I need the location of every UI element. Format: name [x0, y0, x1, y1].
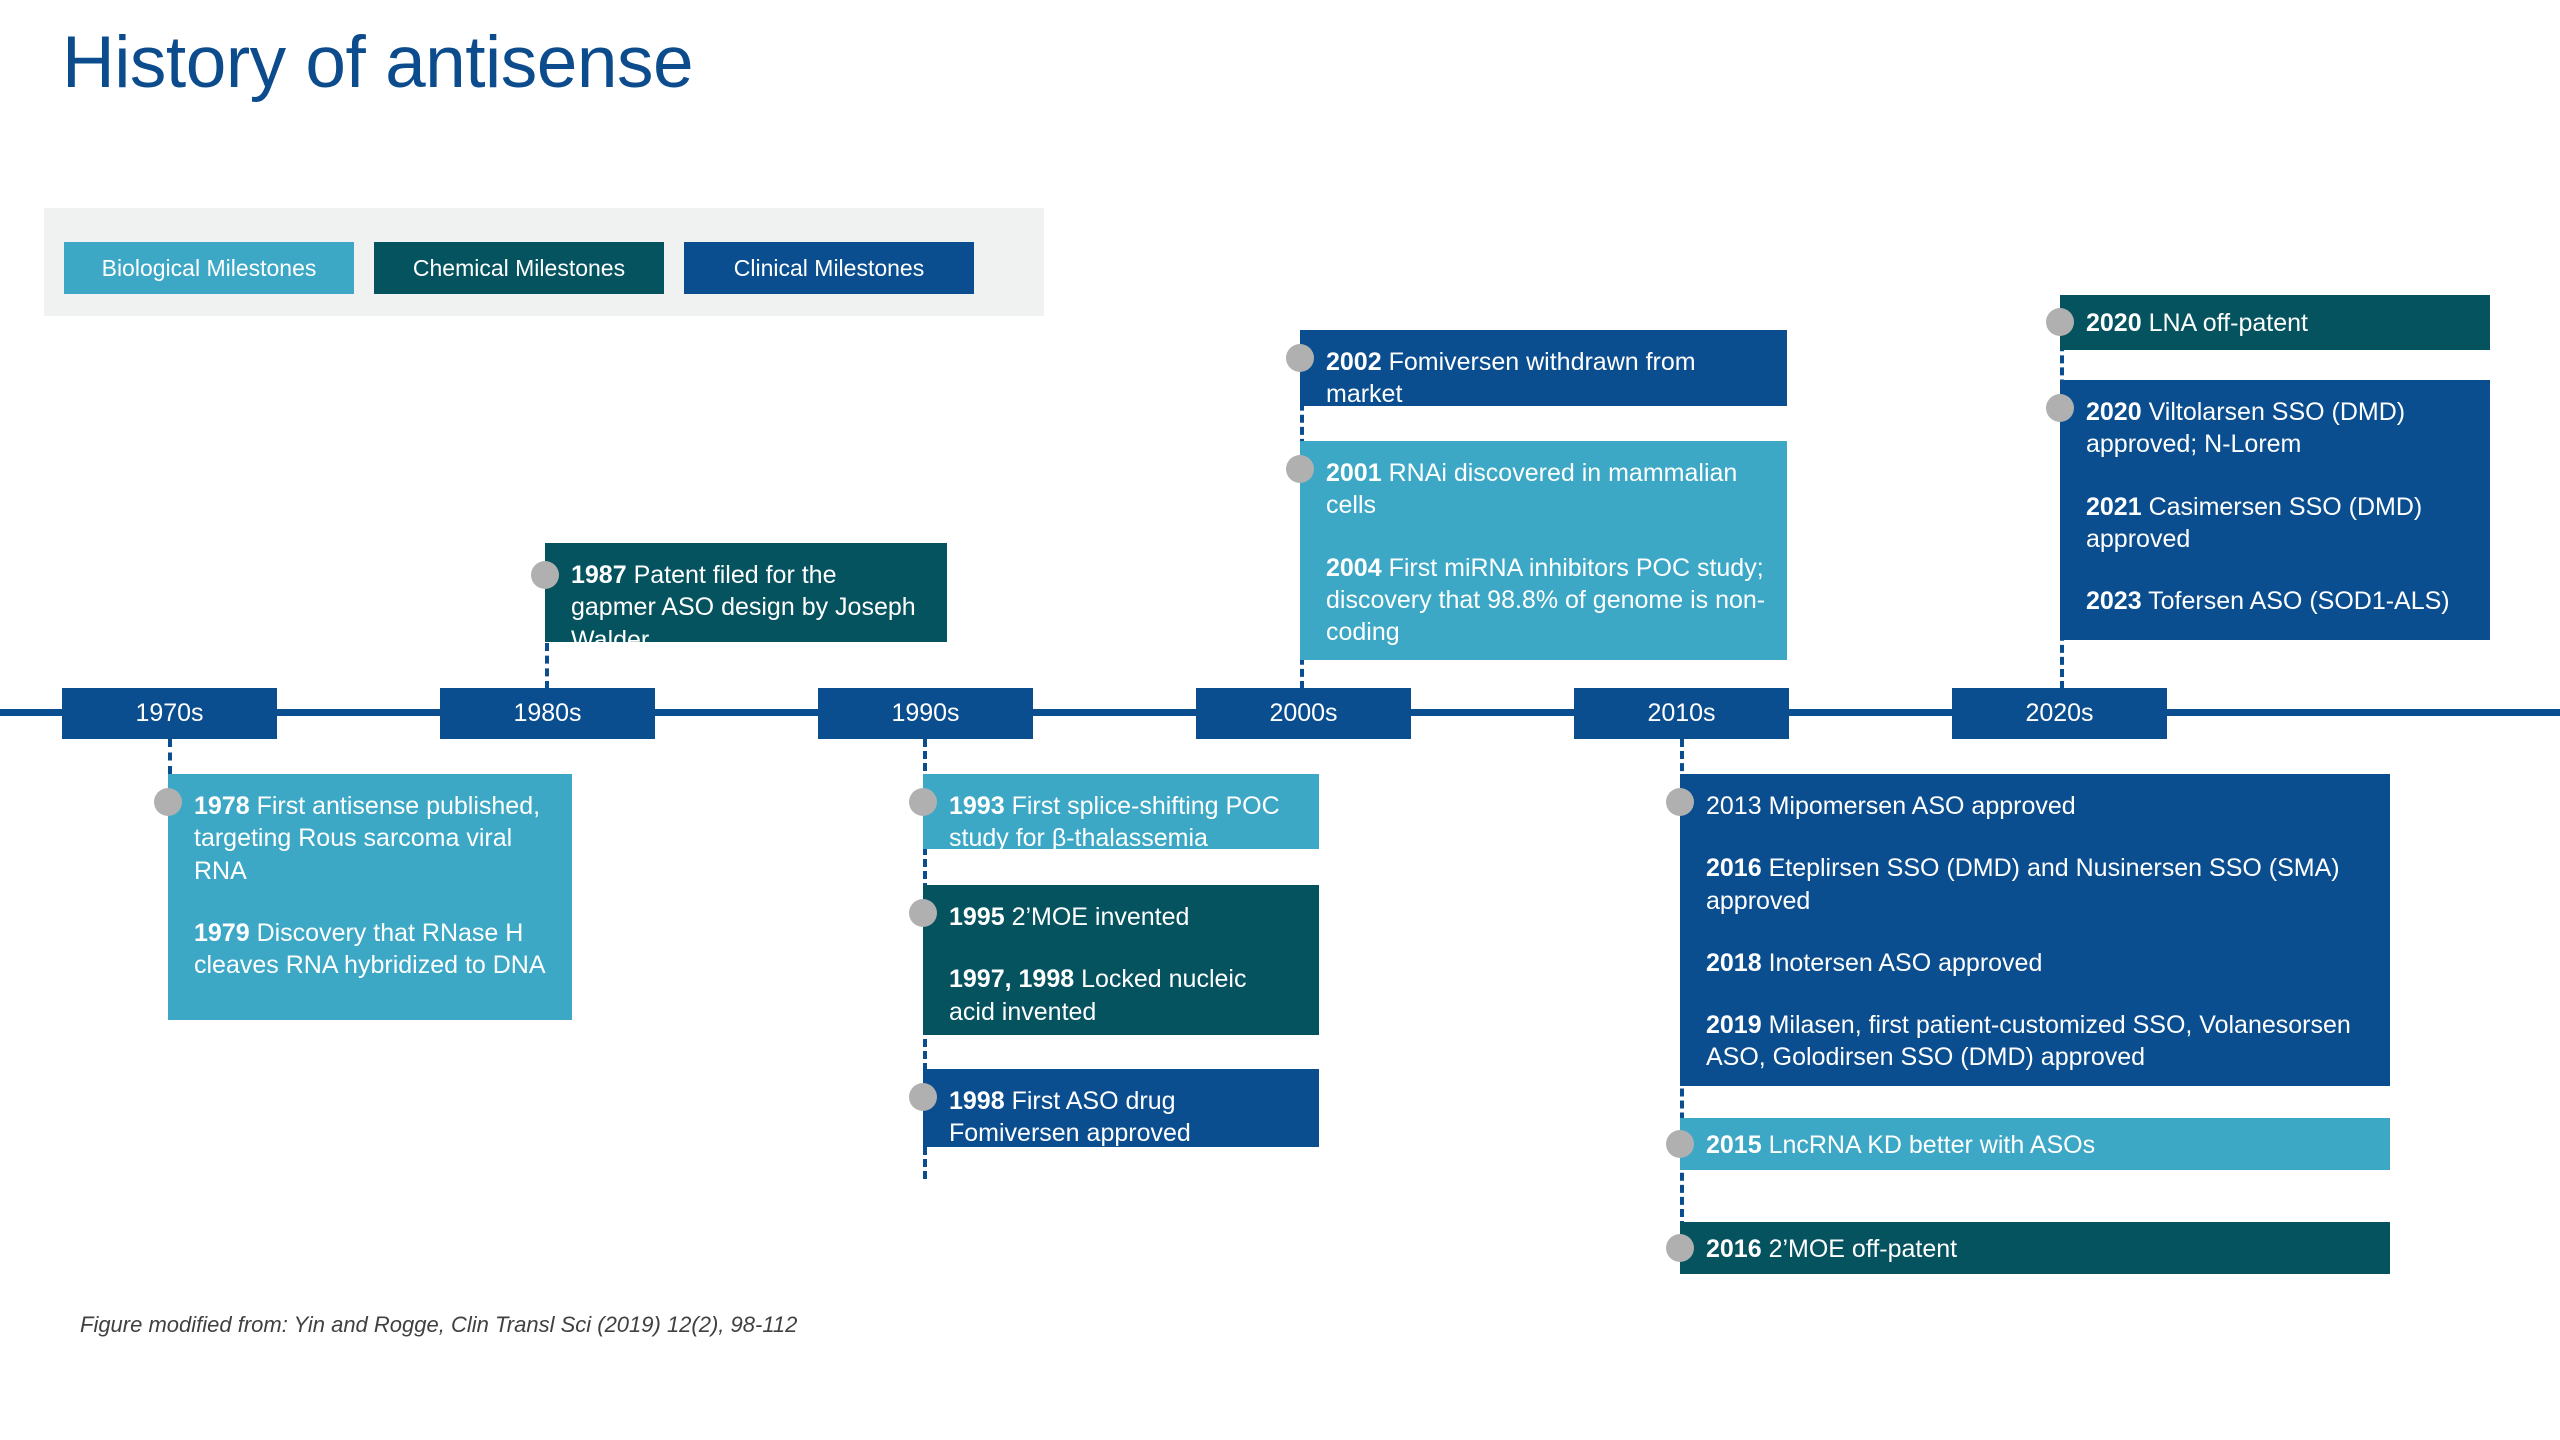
milestone-entry: 1997, 1998 Locked nucleic acid invented [949, 963, 1299, 1028]
milestone-dot-icon [531, 561, 559, 589]
milestone-year: 1997, 1998 [949, 965, 1074, 993]
milestone-text: LNA off-patent [2142, 309, 2308, 337]
legend-panel: Biological Milestones Chemical Milestone… [44, 208, 1044, 316]
milestone-entry: 2002 Fomiversen withdrawn from market [1326, 346, 1767, 411]
milestone-year: 2020 [2086, 309, 2142, 337]
legend-item-label: Biological Milestones [102, 255, 317, 282]
milestone-dot-icon [909, 899, 937, 927]
milestone-entry: 2016 2’MOE off-patent [1706, 1233, 2370, 1265]
decade-marker-2000s[interactable]: 2000s [1196, 688, 1411, 739]
milestone-card-2016[interactable]: 2016 2’MOE off-patent [1680, 1222, 2390, 1274]
milestone-card-2015[interactable]: 2015 LncRNA KD better with ASOs [1680, 1118, 2390, 1170]
milestone-entry: 2016 Eteplirsen SSO (DMD) and Nusinersen… [1706, 852, 2370, 917]
milestone-text: Tofersen ASO (SOD1-ALS) [2142, 587, 2450, 615]
page-title: History of antisense [62, 26, 693, 99]
milestone-year: 2016 [1706, 1235, 1762, 1263]
milestone-text: Fomiversen withdrawn from market [1326, 348, 1696, 408]
milestone-card-2001[interactable]: 2001 RNAi discovered in mammalian cells … [1300, 441, 1787, 660]
milestone-text: First miRNA inhibitors POC study; discov… [1326, 554, 1765, 647]
connector-1970s [168, 739, 172, 774]
milestone-card-1987[interactable]: 1987 Patent filed for the gapmer ASO des… [545, 543, 947, 642]
milestone-text: RNAi discovered in mammalian cells [1326, 459, 1737, 519]
connector-1980s [545, 643, 549, 689]
decade-marker-label: 1980s [513, 699, 581, 728]
milestone-year: 2018 [1706, 949, 1762, 977]
milestone-year: 2001 [1326, 459, 1382, 487]
milestone-year: 1987 [571, 561, 627, 589]
legend-item-clinical[interactable]: Clinical Milestones [684, 242, 974, 294]
milestone-card-2020-clinical[interactable]: 2020 Viltolarsen SSO (DMD) approved; N-L… [2060, 380, 2490, 640]
legend-item-label: Chemical Milestones [413, 255, 625, 282]
milestone-entry: 2021 Casimersen SSO (DMD) approved [2086, 491, 2470, 556]
milestone-card-1998[interactable]: 1998 First ASO drug Fomiversen approved [923, 1069, 1319, 1147]
milestone-text: Mipomersen ASO approved [1762, 792, 2076, 820]
milestone-card-1995[interactable]: 1995 2’MOE invented 1997, 1998 Locked nu… [923, 885, 1319, 1035]
milestone-entry: 1987 Patent filed for the gapmer ASO des… [571, 559, 927, 656]
milestone-dot-icon [909, 1083, 937, 1111]
milestone-entry: 2020 LNA off-patent [2086, 307, 2470, 339]
milestone-year: 1995 [949, 903, 1005, 931]
decade-marker-label: 1990s [891, 699, 959, 728]
milestone-card-2020-lna[interactable]: 2020 LNA off-patent [2060, 295, 2490, 350]
milestone-entry: 2013 Mipomersen ASO approved [1706, 790, 2370, 822]
decade-marker-1980s[interactable]: 1980s [440, 688, 655, 739]
milestone-entry: 2004 First miRNA inhibitors POC study; d… [1326, 552, 1767, 649]
milestone-text: LncRNA KD better with ASOs [1762, 1131, 2095, 1159]
milestone-entry: 2023 Tofersen ASO (SOD1-ALS) [2086, 585, 2470, 617]
decade-marker-label: 2020s [2025, 699, 2093, 728]
milestone-year: 1998 [949, 1087, 1005, 1115]
milestone-year: 2002 [1326, 348, 1382, 376]
decade-marker-1970s[interactable]: 1970s [62, 688, 277, 739]
milestone-year: 2019 [1706, 1011, 1762, 1039]
milestone-dot-icon [1666, 1130, 1694, 1158]
figure-credit: Figure modified from: Yin and Rogge, Cli… [80, 1312, 797, 1338]
milestone-entry: 1978 First antisense published, targetin… [194, 790, 552, 887]
milestone-entry: 2019 Milasen, first patient-customized S… [1706, 1009, 2370, 1074]
milestone-card-1978[interactable]: 1978 First antisense published, targetin… [168, 774, 572, 1020]
milestone-entry: 1979 Discovery that RNase H cleaves RNA … [194, 917, 552, 982]
milestone-entry: 1998 First ASO drug Fomiversen approved [949, 1085, 1299, 1150]
milestone-entry: 1995 2’MOE invented [949, 901, 1299, 933]
milestone-dot-icon [2046, 394, 2074, 422]
legend-item-chemical[interactable]: Chemical Milestones [374, 242, 664, 294]
milestone-year: 1993 [949, 792, 1005, 820]
milestone-year: 2020 [2086, 398, 2142, 426]
milestone-dot-icon [1286, 455, 1314, 483]
milestone-year: 2004 [1326, 554, 1382, 582]
decade-marker-2010s[interactable]: 2010s [1574, 688, 1789, 739]
decade-marker-label: 2000s [1269, 699, 1337, 728]
milestone-entry: 2018 Inotersen ASO approved [1706, 947, 2370, 979]
legend-item-biological[interactable]: Biological Milestones [64, 242, 354, 294]
milestone-entry: 1993 First splice-shifting POC study for… [949, 790, 1299, 855]
milestone-year: 2023 [2086, 587, 2142, 615]
milestone-text: Eteplirsen SSO (DMD) and Nusinersen SSO … [1706, 854, 2340, 914]
milestone-year: 2015 [1706, 1131, 1762, 1159]
milestone-dot-icon [1286, 344, 1314, 372]
milestone-dot-icon [1666, 1234, 1694, 1262]
milestone-entry: 2001 RNAi discovered in mammalian cells [1326, 457, 1767, 522]
milestone-year: 2021 [2086, 493, 2142, 521]
milestone-text: 2’MOE off-patent [1762, 1235, 1957, 1263]
milestone-year: 1979 [194, 919, 250, 947]
milestone-year: 2013 [1706, 792, 1762, 820]
decade-marker-1990s[interactable]: 1990s [818, 688, 1033, 739]
milestone-year: 2016 [1706, 854, 1762, 882]
milestone-year: 1978 [194, 792, 250, 820]
decade-marker-label: 2010s [1647, 699, 1715, 728]
milestone-text: Milasen, first patient-customized SSO, V… [1706, 1011, 2351, 1071]
milestone-dot-icon [1666, 788, 1694, 816]
decade-marker-2020s[interactable]: 2020s [1952, 688, 2167, 739]
milestone-card-2002[interactable]: 2002 Fomiversen withdrawn from market [1300, 330, 1787, 406]
milestone-card-1993[interactable]: 1993 First splice-shifting POC study for… [923, 774, 1319, 849]
milestone-text: Inotersen ASO approved [1762, 949, 2043, 977]
milestone-entry: 2015 LncRNA KD better with ASOs [1706, 1129, 2370, 1161]
milestone-text: 2’MOE invented [1005, 903, 1190, 931]
milestone-entry: 2020 Viltolarsen SSO (DMD) approved; N-L… [2086, 396, 2470, 461]
milestone-card-2010s[interactable]: 2013 Mipomersen ASO approved 2016 Etepli… [1680, 774, 2390, 1086]
legend-item-label: Clinical Milestones [734, 255, 924, 282]
decade-marker-label: 1970s [135, 699, 203, 728]
milestone-dot-icon [2046, 308, 2074, 336]
milestone-dot-icon [154, 788, 182, 816]
milestone-dot-icon [909, 788, 937, 816]
